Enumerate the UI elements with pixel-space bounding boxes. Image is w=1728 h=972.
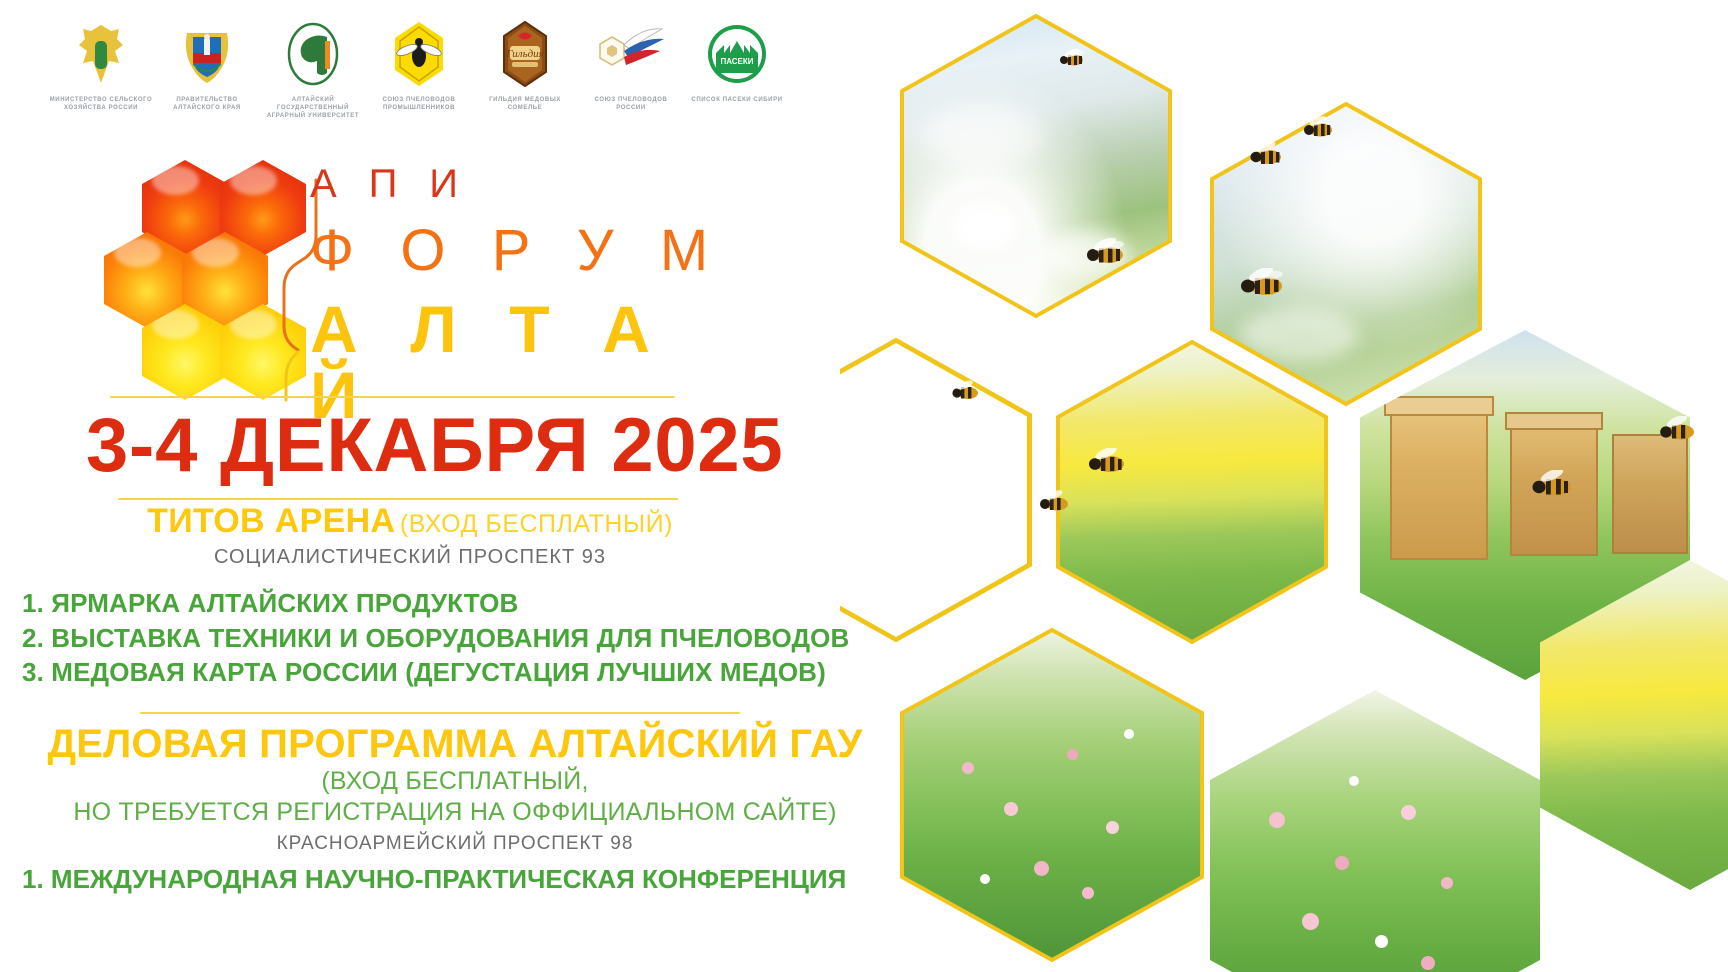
partner-logo: ПРАВИТЕЛЬСТВО АЛТАЙСКОГО КРАЯ (154, 18, 260, 148)
program-note-line2: НО ТРЕБУЕТСЯ РЕГИСТРАЦИЯ НА ОФФИЦИАЛЬНОМ… (0, 797, 910, 828)
bee-icon (1038, 490, 1074, 516)
expo-list-item: 1. ЯРМАРКА АЛТАЙСКИХ ПРОДУКТОВ (22, 586, 912, 621)
decor-flower-speckles (1210, 690, 1540, 972)
expo-list-item: 3. МЕДОВАЯ КАРТА РОССИИ (ДЕГУСТАЦИЯ ЛУЧШ… (22, 655, 912, 690)
decor-speckles (902, 16, 1170, 316)
bee-icon (1658, 416, 1700, 446)
russia-coat-of-arms-icon (73, 18, 129, 90)
partner-logo-caption: АЛТАЙСКИЙ ГОСУДАРСТВЕННЫЙ АГРАРНЫЙ УНИВЕ… (261, 96, 365, 120)
partner-logo: МИНИСТЕРСТВО СЕЛЬСКОГО ХОЗЯЙСТВА РОССИИ (48, 18, 154, 148)
event-wordmark: А П И Ф О Р У М А Л Т А Й (310, 164, 730, 428)
partner-logo-caption: СОЮЗ ПЧЕЛОВОДОВ РОССИИ (579, 96, 683, 112)
partner-logo-caption: СОЮЗ ПЧЕЛОВОДОВ ПРОМЫШЛЕННИКОВ (367, 96, 471, 112)
partner-logo-caption: ГИЛЬДИЯ МЕДОВЫХ СОМЕЛЬЕ (473, 96, 577, 112)
partner-logo: АЛТАЙСКИЙ ГОСУДАРСТВЕННЫЙ АГРАРНЫЙ УНИВЕ… (260, 18, 366, 148)
honey-sommelier-guild-icon: Гильдия (500, 18, 550, 90)
beekeepers-union-icon (391, 18, 447, 90)
program-list-item: 1. МЕЖДУНАРОДНАЯ НАУЧНО-ПРАКТИЧЕСКАЯ КОН… (22, 862, 922, 897)
venue-line: ТИТОВ АРЕНА (ВХОД БЕСПЛАТНЫЙ) (0, 502, 820, 541)
business-program: ДЕЛОВАЯ ПРОГРАММА АЛТАЙСКИЙ ГАУ (ВХОД БЕ… (0, 722, 910, 855)
bee-icon (1058, 48, 1088, 70)
svg-text:ПАСЕКИ: ПАСЕКИ (720, 57, 753, 66)
event-date: 3-4 ДЕКАБРЯ 2025 (86, 408, 726, 484)
bee-icon (1238, 268, 1290, 302)
apiary-association-icon: ПАСЕКИ (706, 18, 768, 90)
venue-name: ТИТОВ АРЕНА (147, 502, 395, 540)
russia-beekeepers-union-icon (596, 18, 666, 90)
program-title: ДЕЛОВАЯ ПРОГРАММА АЛТАЙСКИЙ ГАУ (0, 722, 910, 766)
venue-address: СОЦИАЛИСТИЧЕСКИЙ ПРОСПЕКТ 93 (0, 546, 820, 569)
bee-icon (950, 380, 984, 404)
poster-content: МИНИСТЕРСТВО СЕЛЬСКОГО ХОЗЯЙСТВА РОССИИ … (0, 0, 910, 972)
wordmark-line-forum: Ф О Р У М (310, 222, 730, 280)
divider-above-program (140, 712, 740, 714)
expo-list: 1. ЯРМАРКА АЛТАЙСКИХ ПРОДУКТОВ 2. ВЫСТАВ… (22, 586, 912, 690)
bee-icon (1530, 470, 1578, 502)
partner-logo-caption: СПИСОК ПАСЕКИ СИБИРИ (685, 96, 789, 104)
program-list: 1. МЕЖДУНАРОДНАЯ НАУЧНО-ПРАКТИЧЕСКАЯ КОН… (22, 862, 922, 897)
honeycomb-photo-collage (840, 0, 1728, 972)
partner-logo: СОЮЗ ПЧЕЛОВОДОВ ПРОМЫШЛЕННИКОВ (366, 18, 472, 148)
venue-free-entry: (ВХОД БЕСПЛАТНЫЙ) (400, 510, 673, 538)
program-address: КРАСНОАРМЕЙСКИЙ ПРОСПЕКТ 98 (0, 833, 910, 855)
bee-icon (1086, 448, 1130, 478)
event-logo: А П И Ф О Р У М А Л Т А Й (110, 160, 730, 375)
bee-icon (1084, 238, 1130, 270)
decor-flower-speckles (902, 630, 1202, 960)
agrarian-university-icon (284, 18, 342, 90)
poster-root: МИНИСТЕРСТВО СЕЛЬСКОГО ХОЗЯЙСТВА РОССИИ … (0, 0, 1728, 972)
wordmark-line-api: А П И (310, 164, 730, 204)
honeycomb-logo-mark (110, 160, 300, 360)
photo-hex-flowers-right (1210, 690, 1540, 972)
divider-under-date (118, 498, 678, 500)
altai-krai-emblem-icon (179, 18, 235, 90)
photo-hex-flowers-left (902, 630, 1202, 960)
partner-logo: СОЮЗ ПЧЕЛОВОДОВ РОССИИ (578, 18, 684, 148)
divider-above-date (110, 396, 675, 398)
partner-logo-caption: ПРАВИТЕЛЬСТВО АЛТАЙСКОГО КРАЯ (155, 96, 259, 112)
bee-icon (1248, 142, 1288, 170)
photo-hex-field (1058, 342, 1326, 642)
partner-logo: ПАСЕКИ СПИСОК ПАСЕКИ СИБИРИ (684, 18, 790, 148)
expo-list-item: 2. ВЫСТАВКА ТЕХНИКИ И ОБОРУДОВАНИЯ ДЛЯ П… (22, 621, 912, 656)
bee-icon (1302, 116, 1338, 142)
photo-hex-mountains (902, 16, 1170, 316)
partner-logo: Гильдия ГИЛЬДИЯ МЕДОВЫХ СОМЕЛЬЕ (472, 18, 578, 148)
svg-text:Гильдия: Гильдия (505, 48, 544, 60)
partner-logo-caption: МИНИСТЕРСТВО СЕЛЬСКОГО ХОЗЯЙСТВА РОССИИ (49, 96, 153, 112)
program-note-line1: (ВХОД БЕСПЛАТНЫЙ, (0, 766, 910, 797)
partner-logos: МИНИСТЕРСТВО СЕЛЬСКОГО ХОЗЯЙСТВА РОССИИ … (48, 18, 808, 148)
